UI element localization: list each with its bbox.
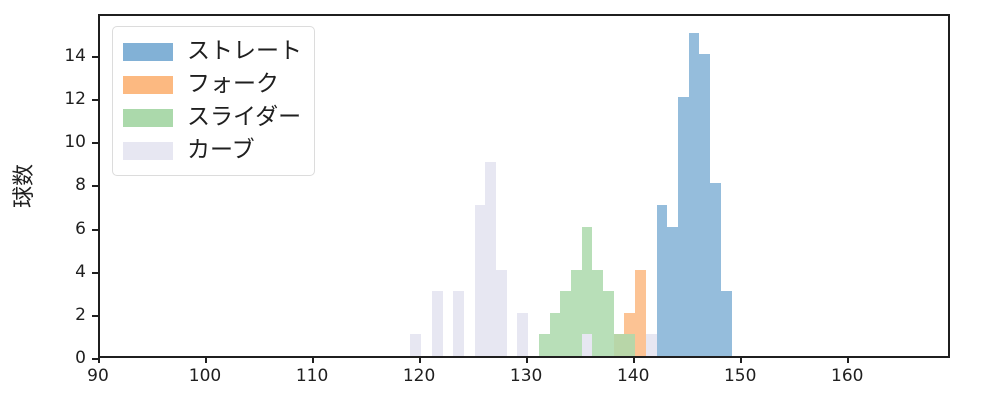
x-axis-tick — [740, 358, 742, 363]
y-axis-tick-label: 10 — [64, 132, 86, 152]
x-axis-tick-label: 160 — [831, 366, 863, 386]
x-axis-tick-label: 140 — [617, 366, 649, 386]
histogram-bar — [410, 334, 421, 356]
legend-item[interactable]: スライダー — [123, 101, 302, 134]
x-axis-tick — [633, 358, 635, 363]
histogram-bar — [635, 270, 646, 356]
legend-swatch-curve-icon — [123, 142, 173, 160]
y-axis-tick-label: 12 — [64, 89, 86, 109]
y-axis-tick-label: 4 — [75, 262, 86, 282]
histogram-bar — [657, 205, 668, 356]
legend: ストレート フォーク スライダー カーブ — [112, 26, 315, 176]
x-axis-tick-label: 100 — [189, 366, 221, 386]
x-axis-tick — [419, 358, 421, 363]
legend-label-curve: カーブ — [187, 139, 255, 162]
y-axis-label: 球数 — [6, 164, 38, 208]
x-axis-tick — [98, 358, 100, 363]
legend-label-straight: ストレート — [187, 40, 302, 63]
x-axis-tick-label: 150 — [724, 366, 756, 386]
y-axis-tick — [92, 358, 98, 360]
histogram-bar — [721, 291, 732, 356]
histogram-bar — [646, 334, 657, 356]
x-axis-tick — [847, 358, 849, 363]
x-axis-tick — [205, 358, 207, 363]
histogram-bar — [710, 183, 721, 356]
y-axis-tick-label: 2 — [75, 305, 86, 325]
histogram-bar — [667, 227, 678, 356]
y-axis-tick-label: 14 — [64, 46, 86, 66]
histogram-bar — [475, 205, 486, 356]
histogram-figure: 球数 9010011012013014015016002468101214 スト… — [0, 0, 1000, 400]
histogram-bar — [496, 270, 507, 356]
y-axis-tick-label: 8 — [75, 175, 86, 195]
x-axis-tick — [312, 358, 314, 363]
histogram-bar — [624, 334, 635, 356]
y-axis-tick-label: 6 — [75, 219, 86, 239]
x-axis-tick-label: 110 — [296, 366, 328, 386]
histogram-bar — [517, 313, 528, 356]
histogram-bar — [453, 291, 464, 356]
histogram-bar — [678, 97, 689, 356]
histogram-bar — [699, 54, 710, 356]
legend-item[interactable]: カーブ — [123, 134, 302, 167]
legend-label-slider: スライダー — [187, 106, 301, 129]
histogram-bar — [539, 334, 550, 356]
x-axis-tick-label: 120 — [403, 366, 435, 386]
histogram-bar — [603, 291, 614, 356]
histogram-bar — [432, 291, 443, 356]
x-axis-tick — [526, 358, 528, 363]
x-axis-tick-label: 90 — [87, 366, 109, 386]
histogram-bar — [550, 313, 561, 356]
legend-swatch-fork-icon — [123, 76, 173, 94]
x-axis-tick-label: 130 — [510, 366, 542, 386]
legend-swatch-straight-icon — [123, 43, 173, 61]
histogram-bar — [571, 270, 582, 356]
histogram-bar — [689, 33, 700, 357]
legend-item[interactable]: フォーク — [123, 68, 302, 101]
histogram-bar — [560, 291, 571, 356]
histogram-bar — [485, 162, 496, 356]
histogram-bar — [614, 334, 625, 356]
y-axis-tick-label: 0 — [75, 348, 86, 368]
histogram-bar — [592, 270, 603, 356]
legend-label-fork: フォーク — [187, 73, 279, 96]
legend-item[interactable]: ストレート — [123, 35, 302, 68]
legend-swatch-slider-icon — [123, 109, 173, 127]
histogram-bar — [582, 334, 593, 356]
